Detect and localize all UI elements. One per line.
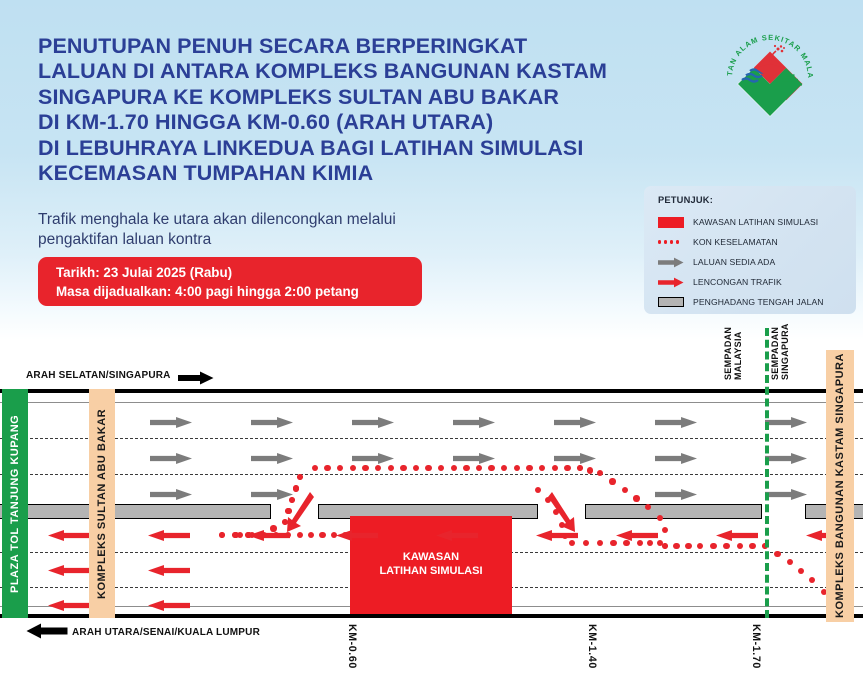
- safety-cone-icon: [312, 465, 318, 471]
- traffic-arrow-existing-lane: [251, 416, 293, 428]
- road-edge-bottom: [0, 614, 863, 618]
- safety-cone-icon: [749, 543, 755, 549]
- simulation-zone-label: KAWASAN LATIHAN SIMULASI: [350, 550, 512, 578]
- diversion-arrow-left: [283, 490, 317, 502]
- traffic-arrow-diversion: [716, 529, 758, 541]
- legend-title: PETUNJUK:: [658, 195, 713, 205]
- title-line-4: DI KM-1.70 HINGGA KM-0.60 (ARAH UTARA): [38, 110, 678, 135]
- safety-cone-icon: [362, 465, 368, 471]
- median-barrier-1: [0, 504, 271, 519]
- traffic-arrow-existing-lane: [352, 452, 394, 464]
- direction-north-arrow-icon: [26, 623, 68, 639]
- sim-label-line-1: KAWASAN: [350, 550, 512, 564]
- band-label-kastam-singapura: KOMPLEKS BANGUNAN KASTAM SINGAPURA: [834, 354, 846, 619]
- safety-cone-icon: [809, 577, 815, 583]
- safety-cone-icon: [552, 465, 558, 471]
- traffic-arrow-diversion: [48, 599, 90, 611]
- safety-cone-icon: [514, 465, 520, 471]
- safety-cone-icon: [270, 525, 276, 531]
- safety-cone-icon: [413, 465, 419, 471]
- safety-cone-icon: [610, 540, 616, 546]
- safety-cone-icon: [774, 551, 780, 557]
- legend-item-cones: KON KESELAMATAN: [658, 234, 778, 250]
- safety-cone-icon: [331, 532, 337, 538]
- time-label: Masa dijadualkan: 4:00 pagi hingga 2:00 …: [56, 282, 422, 301]
- traffic-arrow-existing-lane: [765, 452, 807, 464]
- traffic-arrow-diversion: [148, 529, 190, 541]
- sim-label-line-2: LATIHAN SIMULASI: [350, 564, 512, 578]
- traffic-arrow-existing-lane: [655, 416, 697, 428]
- safety-cone-icon: [697, 543, 703, 549]
- safety-cone-icon: [723, 543, 729, 549]
- safety-cone-icon: [350, 465, 356, 471]
- barrier-icon: [658, 296, 686, 308]
- km-marker-label: KM-0.60: [346, 624, 358, 669]
- red-arrow-icon: [658, 276, 686, 288]
- red-block-icon: [658, 216, 686, 228]
- safety-cone-icon: [564, 465, 570, 471]
- safety-cone-icon: [587, 467, 593, 473]
- title-line-3: SINGAPURA KE KOMPLEKS SULTAN ABU BAKAR: [38, 85, 678, 110]
- safety-cone-icon: [463, 465, 469, 471]
- safety-cone-icon: [526, 465, 532, 471]
- date-label: Tarikh: 23 Julai 2025 (Rabu): [56, 263, 422, 282]
- legend-label-cones: KON KESELAMATAN: [693, 237, 778, 247]
- safety-cone-icon: [633, 495, 639, 501]
- band-label-sultan-abu-bakar: KOMPLEKS SULTAN ABU BAKAR: [96, 408, 108, 598]
- road-edge-top: [0, 389, 863, 393]
- safety-cone-icon: [737, 543, 743, 549]
- title-line-1: PENUTUPAN PENUH SECARA BERPERINGKAT: [38, 34, 678, 59]
- legend-panel: PETUNJUK: KAWASAN LATIHAN SIMULASI KON K…: [644, 186, 856, 314]
- schedule-box: Tarikh: 23 Julai 2025 (Rabu) Masa dijadu…: [38, 257, 422, 306]
- safety-cone-icon: [438, 465, 444, 471]
- lane-divider-1: [0, 438, 863, 439]
- safety-cone-icon: [337, 465, 343, 471]
- direction-south-label: ARAH SELATAN/SINGAPURA: [26, 370, 171, 381]
- km-marker-label: KM-1.40: [586, 624, 598, 669]
- diversion-arrow-right: [545, 490, 579, 502]
- traffic-arrow-existing-lane: [453, 416, 495, 428]
- safety-cone-icon: [597, 470, 603, 476]
- subtitle: Trafik menghala ke utara akan dilencongk…: [38, 210, 558, 250]
- safety-cone-icon: [710, 543, 716, 549]
- traffic-arrow-diversion: [48, 529, 90, 541]
- traffic-arrow-diversion: [436, 529, 478, 541]
- median-barrier-3: [585, 504, 762, 519]
- safety-cone-icon: [597, 540, 603, 546]
- safety-cone-icon: [375, 465, 381, 471]
- malaysia-singapore-border-line: [765, 328, 769, 618]
- safety-cone-icon: [685, 543, 691, 549]
- legend-item-existing-lane: LALUAN SEDIA ADA: [658, 254, 775, 270]
- legend-item-diversion: LENCONGAN TRAFIK: [658, 274, 782, 290]
- traffic-arrow-existing-lane: [352, 416, 394, 428]
- safety-cone-icon: [609, 478, 615, 484]
- legend-item-barrier: PENGHADANG TENGAH JALAN: [658, 294, 824, 310]
- traffic-arrow-diversion: [148, 599, 190, 611]
- safety-cone-icon: [622, 487, 628, 493]
- road-diagram: ARAH SELATAN/SINGAPURA KAWASAN LATIHAN S…: [0, 340, 863, 690]
- traffic-arrow-existing-lane: [150, 452, 192, 464]
- safety-cone-icon: [673, 543, 679, 549]
- band-kompleks-bangunan-kastam-singapura: KOMPLEKS BANGUNAN KASTAM SINGAPURA: [826, 350, 854, 622]
- safety-cone-icon: [535, 487, 541, 493]
- safety-cone-icon: [400, 465, 406, 471]
- traffic-arrow-existing-lane: [150, 488, 192, 500]
- safety-cone-icon: [623, 540, 629, 546]
- traffic-arrow-existing-lane: [655, 452, 697, 464]
- title-line-2: LALUAN DI ANTARA KOMPLEKS BANGUNAN KASTA…: [38, 59, 678, 84]
- safety-cone-icon: [425, 465, 431, 471]
- road-shoulder-top: [0, 402, 863, 403]
- red-dots-icon: [658, 236, 686, 248]
- safety-cone-icon: [476, 465, 482, 471]
- direction-north-label: ARAH UTARA/SENAI/KUALA LUMPUR: [72, 627, 260, 638]
- sempadan-malaysia-label: SEMPADAN MALAYSIA: [723, 324, 743, 380]
- title-line-6: KECEMASAN TUMPAHAN KIMIA: [38, 161, 678, 186]
- traffic-arrow-diversion: [148, 564, 190, 576]
- traffic-arrow-diversion: [616, 529, 658, 541]
- safety-cone-icon: [219, 532, 225, 538]
- subtitle-line-2: pengaktifan laluan kontra: [38, 230, 558, 250]
- band-kompleks-sultan-abu-bakar: KOMPLEKS SULTAN ABU BAKAR: [89, 389, 115, 618]
- subtitle-line-1: Trafik menghala ke utara akan dilencongk…: [38, 210, 558, 230]
- safety-cone-icon: [798, 568, 804, 574]
- safety-cone-icon: [637, 540, 643, 546]
- legend-label-sim-zone: KAWASAN LATIHAN SIMULASI: [693, 217, 818, 227]
- traffic-arrow-existing-lane: [554, 452, 596, 464]
- band-label-plaza-tol: PLAZA TOL TANJUNG KUPANG: [9, 414, 21, 592]
- safety-cone-icon: [237, 532, 243, 538]
- safety-cone-icon: [539, 465, 545, 471]
- traffic-arrow-diversion: [48, 564, 90, 576]
- lane-divider-2: [0, 474, 863, 475]
- page-title: PENUTUPAN PENUH SECARA BERPERINGKAT LALU…: [38, 34, 678, 186]
- safety-cone-icon: [657, 515, 663, 521]
- legend-item-sim-zone: KAWASAN LATIHAN SIMULASI: [658, 214, 818, 230]
- safety-cone-icon: [501, 465, 507, 471]
- band-plaza-tol-tanjung-kupang: PLAZA TOL TANJUNG KUPANG: [2, 389, 28, 618]
- safety-cone-icon: [297, 474, 303, 480]
- safety-cone-icon: [647, 540, 653, 546]
- legend-label-diversion: LENCONGAN TRAFIK: [693, 277, 782, 287]
- safety-cone-icon: [662, 527, 668, 533]
- traffic-arrow-existing-lane: [655, 488, 697, 500]
- legend-label-existing-lane: LALUAN SEDIA ADA: [693, 257, 775, 267]
- safety-cone-icon: [388, 465, 394, 471]
- title-line-5: DI LEBUHRAYA LINKEDUA BAGI LATIHAN SIMUL…: [38, 136, 678, 161]
- traffic-arrow-existing-lane: [765, 416, 807, 428]
- safety-cone-icon: [577, 465, 583, 471]
- safety-cone-icon: [451, 465, 457, 471]
- traffic-arrow-existing-lane: [765, 488, 807, 500]
- traffic-arrow-existing-lane: [150, 416, 192, 428]
- safety-cone-icon: [569, 540, 575, 546]
- safety-cone-icon: [324, 465, 330, 471]
- traffic-arrow-existing-lane: [251, 452, 293, 464]
- traffic-arrow-existing-lane: [453, 452, 495, 464]
- traffic-arrow-existing-lane: [554, 416, 596, 428]
- legend-label-barrier: PENGHADANG TENGAH JALAN: [693, 297, 824, 307]
- safety-cone-icon: [488, 465, 494, 471]
- safety-cone-icon: [787, 559, 793, 565]
- direction-south-arrow-icon: [178, 371, 214, 385]
- gray-arrow-icon: [658, 256, 686, 268]
- safety-cone-icon: [583, 540, 589, 546]
- sempadan-singapura-label: SEMPADAN SINGAPURA: [770, 324, 790, 380]
- km-marker-label: KM-1.70: [750, 624, 762, 669]
- jas-malaysia-logo: JABATAN ALAM SEKITAR MALAYSIA: [722, 28, 818, 124]
- safety-cone-icon: [319, 532, 325, 538]
